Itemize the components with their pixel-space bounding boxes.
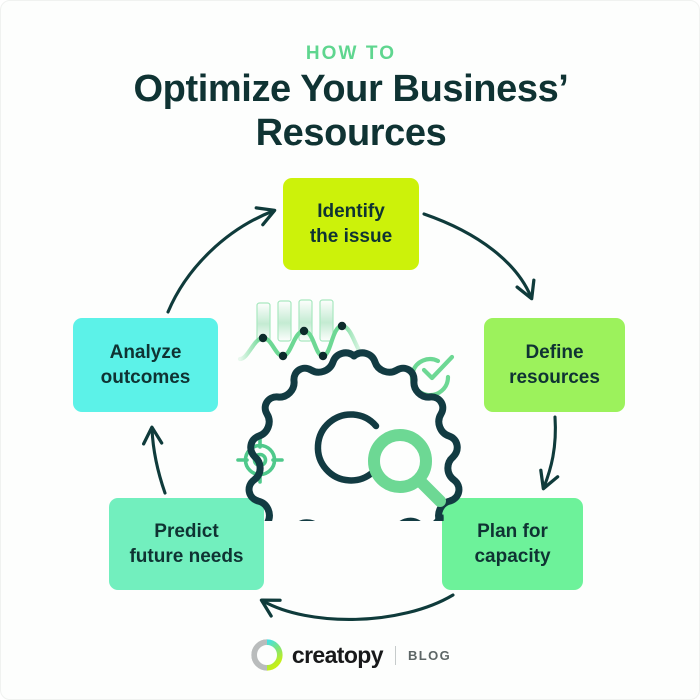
step-box-define[interactable]: Define resources [484, 318, 625, 412]
step-label-define: Define resources [509, 340, 600, 390]
arrow-define-to-plan [544, 417, 555, 487]
step-label-analyze: Analyze outcomes [101, 340, 191, 390]
infographic-canvas: HOW TO Optimize Your Business’ Resources… [0, 0, 700, 700]
central-illustration [226, 296, 476, 521]
creatopy-logo-icon [251, 639, 283, 671]
footer-logo: creatopy BLOG [1, 639, 700, 671]
arrow-plan-to-predict [263, 595, 453, 619]
logo-divider [395, 646, 396, 665]
page-title-line-2: Resources [61, 111, 641, 155]
step-label-predict: Predict future needs [129, 519, 243, 569]
brand-section-label: BLOG [408, 648, 451, 663]
arrow-identify-to-define [424, 214, 531, 297]
page-title: Optimize Your Business’ Resources [61, 67, 641, 155]
step-box-identify[interactable]: Identify the issue [283, 178, 419, 270]
step-label-plan: Plan for capacity [474, 519, 550, 569]
page-title-line-1: Optimize Your Business’ [61, 67, 641, 111]
step-box-analyze[interactable]: Analyze outcomes [73, 318, 218, 412]
kicker-label: HOW TO [1, 43, 700, 65]
magnifier-icon [374, 435, 440, 501]
brand-name: creatopy [292, 642, 383, 669]
step-label-identify: Identify the issue [310, 199, 392, 249]
arrow-predict-to-analyze [152, 429, 165, 493]
